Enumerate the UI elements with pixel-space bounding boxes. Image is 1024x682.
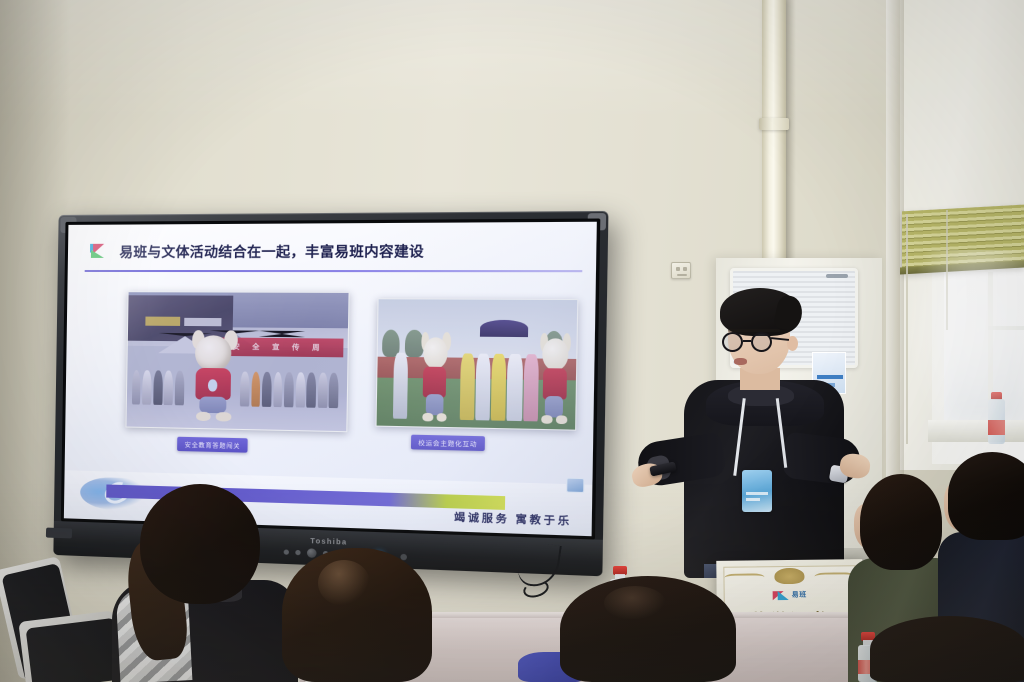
air-conditioner-display bbox=[826, 274, 848, 278]
water-bottle-on-sill[interactable] bbox=[988, 392, 1005, 444]
window-mullion-horizontal bbox=[988, 326, 1024, 330]
vertical-water-pipe bbox=[762, 0, 786, 285]
slide-title: 易班与文体活动结合在一起，丰富易班内容建设 bbox=[119, 240, 424, 261]
wall-shadow-bottom bbox=[0, 482, 1024, 682]
pipe-joint-coupling bbox=[759, 118, 789, 130]
stadium-group-photo bbox=[376, 298, 579, 431]
wall-highlight-top bbox=[0, 0, 1024, 120]
pipe-shadow bbox=[786, 0, 796, 285]
window-sill bbox=[928, 420, 1024, 442]
eyeglasses-icon bbox=[722, 332, 788, 352]
photo-caption-right: 校运会主题化互动 bbox=[411, 435, 486, 451]
screenshot-root: 易班与文体活动结合在一起，丰富易班内容建设 安 全 宣 传 周 bbox=[0, 0, 1024, 682]
blinds-tilt-cord[interactable] bbox=[946, 210, 948, 330]
photo-caption-left: 安全教育答题闯关 bbox=[177, 437, 247, 453]
blinds-pull-cord[interactable] bbox=[906, 214, 908, 444]
slide-title-row: 易班与文体活动结合在一起，丰富易班内容建设 bbox=[90, 239, 579, 261]
power-outlet-right[interactable] bbox=[671, 262, 691, 279]
plaza-crowd-photo: 安 全 宣 传 周 bbox=[126, 291, 350, 432]
slide-title-underline bbox=[85, 270, 582, 272]
window-glass bbox=[944, 272, 1024, 422]
yiban-triangle-logo bbox=[90, 243, 112, 259]
